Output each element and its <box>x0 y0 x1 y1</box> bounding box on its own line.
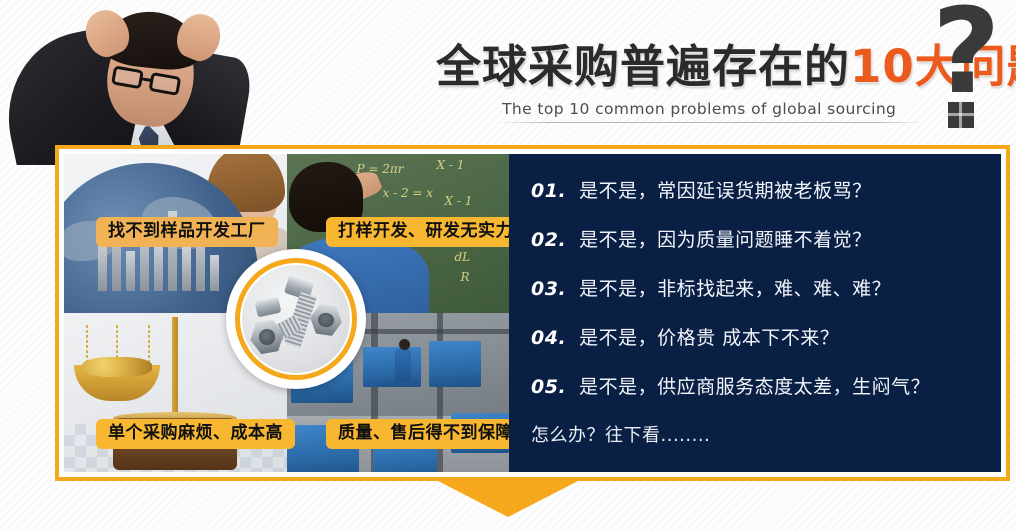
headline-block: 全球采购普遍存在的10大问题 The top 10 common problem… <box>436 44 996 136</box>
list-item: 02. 是不是，因为质量问题睡不着觉？ <box>531 225 1001 252</box>
promo-banner: 全球采购普遍存在的10大问题 The top 10 common problem… <box>0 0 1016 531</box>
photo-collage: P = 2πr X - 1 x - 2 = x X - 1 R dL R <box>64 154 509 472</box>
collage-tag-2: 打样开发、研发无实力 <box>326 217 509 247</box>
item-number: 03. <box>531 278 566 300</box>
gold-nuggets <box>82 357 152 377</box>
problem-list-panel: 01. 是不是，常因延误货期被老板骂？ 02. 是不是，因为质量问题睡不着觉？ … <box>509 154 1001 472</box>
item-text: 是不是，价格贵 成本下不来？ <box>579 323 839 350</box>
item-text: 是不是，常因延误货期被老板骂？ <box>579 176 872 203</box>
page-subtitle: The top 10 common problems of global sou… <box>502 100 896 118</box>
item-number: 04. <box>531 327 566 349</box>
list-item: 03. 是不是，非标找起来，难、难、难？ <box>531 274 1001 301</box>
worker-head <box>399 339 410 350</box>
item-number: 05. <box>531 376 566 398</box>
scale-post <box>172 317 178 421</box>
list-item: 05. 是不是，供应商服务态度太差，生闷气？ <box>531 372 1001 399</box>
collage-tag-4: 质量、售后得不到保障 <box>326 419 509 449</box>
collage-tag-3: 单个采购麻烦、成本高 <box>96 419 295 449</box>
circle-disc <box>242 265 350 373</box>
panel-footnote: 怎么办？往下看........ <box>531 421 1001 447</box>
question-mark-icon: ? <box>938 18 1012 140</box>
collage-tag-1: 找不到样品开发工厂 <box>96 217 278 247</box>
item-text: 是不是，因为质量问题睡不着觉？ <box>579 225 872 252</box>
frustrated-businessman-photo <box>0 0 250 165</box>
subtitle-rule <box>496 122 926 123</box>
item-text: 是不是，非标找起来，难、难、难？ <box>579 274 891 301</box>
list-item: 01. 是不是，常因延误货期被老板骂？ <box>531 176 1001 203</box>
question-mark-dot <box>948 102 974 128</box>
item-text: 是不是，供应商服务态度太差，生闷气？ <box>579 372 930 399</box>
page-title: 全球采购普遍存在的10大问题 <box>436 44 996 89</box>
list-item: 04. 是不是，价格贵 成本下不来？ <box>531 323 1001 350</box>
factory-worker <box>395 349 411 383</box>
content-card: P = 2πr X - 1 x - 2 = x X - 1 R dL R <box>55 145 1010 481</box>
question-mark-glyph: ? <box>932 0 1000 110</box>
item-number: 01. <box>531 180 566 202</box>
title-main: 全球采购普遍存在的 <box>436 40 850 93</box>
problem-list: 01. 是不是，常因延误货期被老板骂？ 02. 是不是，因为质量问题睡不着觉？ … <box>531 176 1001 399</box>
item-number: 02. <box>531 229 566 251</box>
bolts-circle-badge <box>226 249 366 389</box>
